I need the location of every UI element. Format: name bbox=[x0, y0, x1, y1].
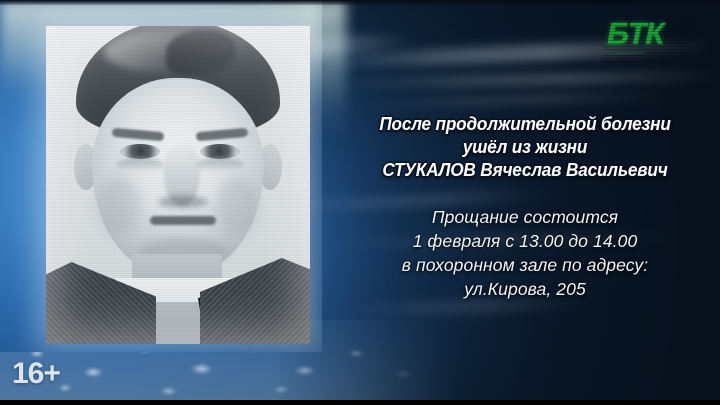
under-eye-left bbox=[116, 158, 164, 172]
headline-line-3: СТУКАЛОВ Вячеслав Васильевич bbox=[344, 158, 707, 181]
under-eye-right bbox=[196, 158, 244, 172]
eye-left bbox=[120, 144, 160, 159]
portrait-photo bbox=[46, 26, 310, 344]
mouth-shape bbox=[150, 216, 216, 225]
headline-line-1: После продолжительной болезни bbox=[344, 112, 707, 135]
detail-line-1: Прощание состоится bbox=[330, 205, 720, 229]
eye-right bbox=[200, 144, 240, 159]
headline-line-2: ушёл из жизни bbox=[344, 135, 707, 158]
announcement-details: Прощание состоится 1 февраля с 13.00 до … bbox=[330, 205, 720, 301]
channel-logo-subtitle: телерадиокомпания bbox=[604, 49, 689, 56]
detail-line-4: ул.Кирова, 205 bbox=[330, 277, 720, 301]
portrait-panel bbox=[0, 0, 322, 352]
cheek-shadow-left bbox=[98, 176, 140, 236]
broadcast-screen: После продолжительной болезни ушёл из жи… bbox=[0, 0, 720, 405]
top-letterbox-bar bbox=[0, 0, 720, 5]
age-rating-badge: 16+ bbox=[12, 358, 60, 390]
channel-logo: БТК телерадиокомпания bbox=[602, 18, 697, 62]
portrait-photo-canvas bbox=[46, 26, 310, 344]
channel-logo-letters: БТК bbox=[604, 18, 696, 50]
nose-shadow bbox=[158, 196, 208, 208]
bottom-letterbox-bar bbox=[0, 400, 720, 405]
announcement-headline: После продолжительной болезни ушёл из жи… bbox=[344, 112, 707, 181]
detail-line-3: в похоронном зале по адресу: bbox=[330, 253, 720, 277]
cheek-shadow-right bbox=[216, 176, 258, 236]
detail-line-2: 1 февраля с 13.00 до 14.00 bbox=[330, 229, 720, 253]
